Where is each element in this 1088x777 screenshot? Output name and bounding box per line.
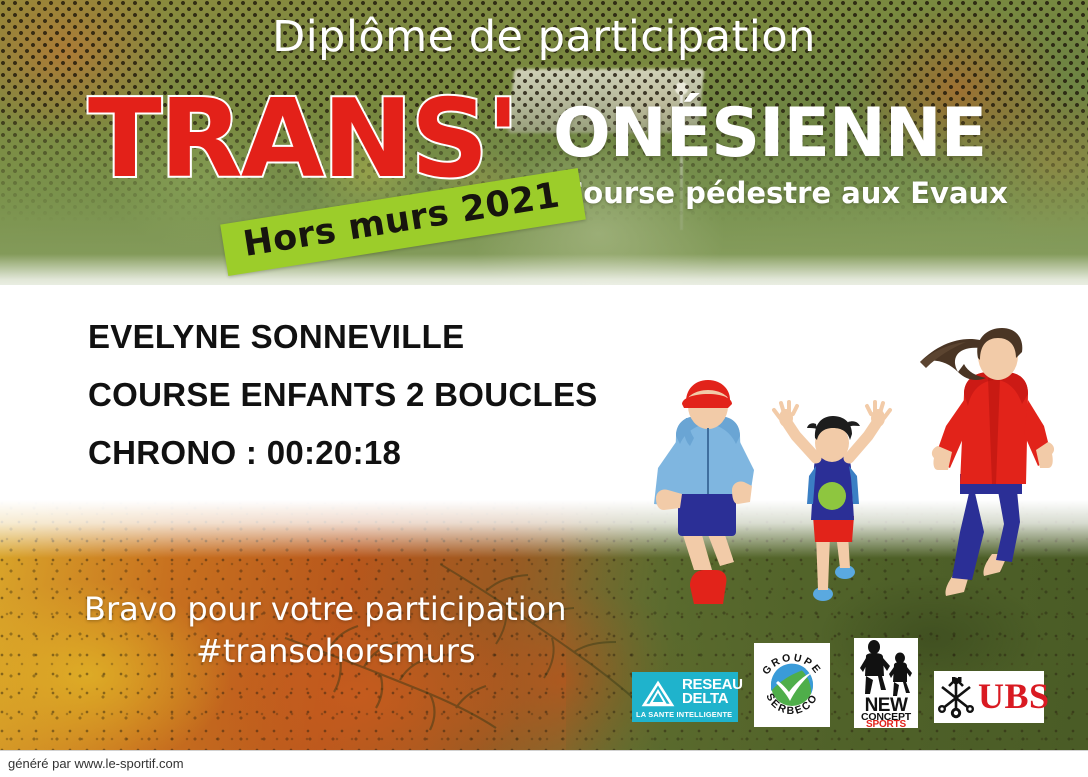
- delta-triangle-icon: [639, 678, 677, 709]
- serbeco-mark-icon: GROUPE SERBECO: [754, 643, 830, 727]
- certificate-page: Diplôme de participation TRANS' ONÉSIENN…: [0, 0, 1088, 777]
- event-subtitle: Course pédestre aux Evaux: [562, 176, 1008, 210]
- svg-text:SPORTS: SPORTS: [866, 719, 906, 728]
- brand-trans: TRANS': [88, 86, 518, 194]
- participant-details: EVELYNE SONNEVILLE COURSE ENFANTS 2 BOUC…: [88, 320, 708, 494]
- congrats-message: Bravo pour votre participation #transoho…: [84, 588, 684, 672]
- reseau-delta-line-2: DELTA: [682, 691, 728, 706]
- page-title: Diplôme de participation: [0, 12, 1088, 62]
- new-concept-sports-logo: NEW CONCEPT SPORTS: [854, 638, 918, 728]
- ncs-runners-icon: NEW CONCEPT SPORTS: [854, 638, 918, 728]
- brand-onesienne: ONÉSIENNE: [553, 100, 986, 168]
- runner-child-center: [774, 402, 890, 601]
- participant-category: COURSE ENFANTS 2 BOUCLES: [88, 378, 708, 411]
- reseau-delta-tagline: LA SANTE INTELLIGENTE: [636, 710, 732, 719]
- congrats-line-1: Bravo pour votre participation: [84, 588, 684, 630]
- runner-adult-left: [654, 380, 755, 604]
- groupe-serbeco-logo: GROUPE SERBECO: [754, 643, 830, 727]
- participant-name: EVELYNE SONNEVILLE: [88, 320, 708, 353]
- sponsor-logos: RESEAU DELTA LA SANTE INTELLIGENTE GROUP…: [632, 638, 1044, 734]
- participant-chrono: CHRONO : 00:20:18: [88, 436, 708, 469]
- ubs-logo: UBS: [934, 671, 1044, 723]
- runner-adult-right: [920, 328, 1054, 596]
- ubs-wordmark: UBS: [978, 677, 1050, 715]
- footer-generated-by: généré par www.le-sportif.com: [8, 756, 184, 771]
- congrats-hashtag: #transohorsmurs: [84, 630, 684, 672]
- runners-illustration: [620, 318, 1088, 618]
- footer-bar: généré par www.le-sportif.com: [0, 750, 1088, 777]
- reseau-delta-logo: RESEAU DELTA LA SANTE INTELLIGENTE: [632, 672, 738, 722]
